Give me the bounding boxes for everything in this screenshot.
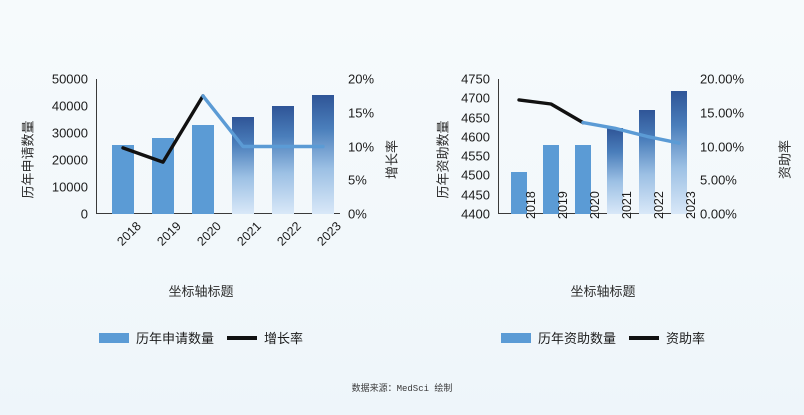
x-label-2023: 2023	[307, 219, 344, 256]
growth-rate-line-applications	[96, 79, 340, 214]
chart-page: 历年申请数量 50000 40000 30000 20000 10000 0	[0, 0, 804, 415]
legend-line-swatch-icon	[629, 336, 659, 340]
x-label-2020: 2020	[187, 219, 224, 256]
x-label-2022: 2022	[267, 219, 304, 256]
legend-funding: 历年资助数量 资助率	[402, 328, 804, 347]
x-label-2021: 2021	[620, 191, 634, 219]
chart-applications: 历年申请数量 50000 40000 30000 20000 10000 0	[0, 0, 402, 370]
x-label-2018: 2018	[107, 219, 144, 256]
x-label-2020: 2020	[588, 191, 602, 219]
y-axis-ticks-left-funding: 4750 4700 4650 4600 4550 4500 4450 4400	[434, 79, 490, 214]
legend-line-swatch-icon	[227, 336, 257, 340]
x-label-2022: 2022	[652, 191, 666, 219]
x-axis-labels-applications: 2018 2019 2020 2021 2022 2023	[96, 219, 340, 267]
source-note: 数据来源：MedSci 绘制	[0, 381, 804, 394]
legend-bar-label: 历年申请数量	[136, 328, 214, 347]
x-axis-title-applications: 坐标轴标题	[0, 281, 402, 300]
x-axis-title-funding: 坐标轴标题	[402, 281, 804, 300]
legend-bar-label: 历年资助数量	[538, 328, 616, 347]
legend-bar-swatch-icon	[501, 333, 531, 343]
y-axis-title-right-funding: 资助率	[775, 126, 794, 194]
legend-bar-swatch-icon	[99, 333, 129, 343]
x-label-2018: 2018	[524, 191, 538, 219]
y-axis-ticks-left-applications: 50000 40000 30000 20000 10000 0	[20, 79, 88, 214]
legend-line-label: 资助率	[666, 328, 705, 347]
plot-area-applications	[96, 79, 340, 214]
x-label-2019: 2019	[556, 191, 570, 219]
y-axis-title-right-applications: 增长率	[382, 126, 401, 194]
legend-line-label: 增长率	[264, 328, 303, 347]
legend-applications: 历年申请数量 增长率	[0, 328, 402, 347]
x-axis-labels-funding: 2018 2019 2020 2021 2022 2023	[498, 219, 692, 265]
chart-funding: 历年资助数量 4750 4700 4650 4600 4550 4500 445…	[402, 0, 804, 370]
y-axis-ticks-right-funding: 20.00% 15.00% 10.00% 5.00% 0.00%	[700, 79, 772, 214]
x-label-2021: 2021	[227, 219, 264, 256]
x-label-2019: 2019	[147, 219, 184, 256]
x-label-2023: 2023	[684, 191, 698, 219]
